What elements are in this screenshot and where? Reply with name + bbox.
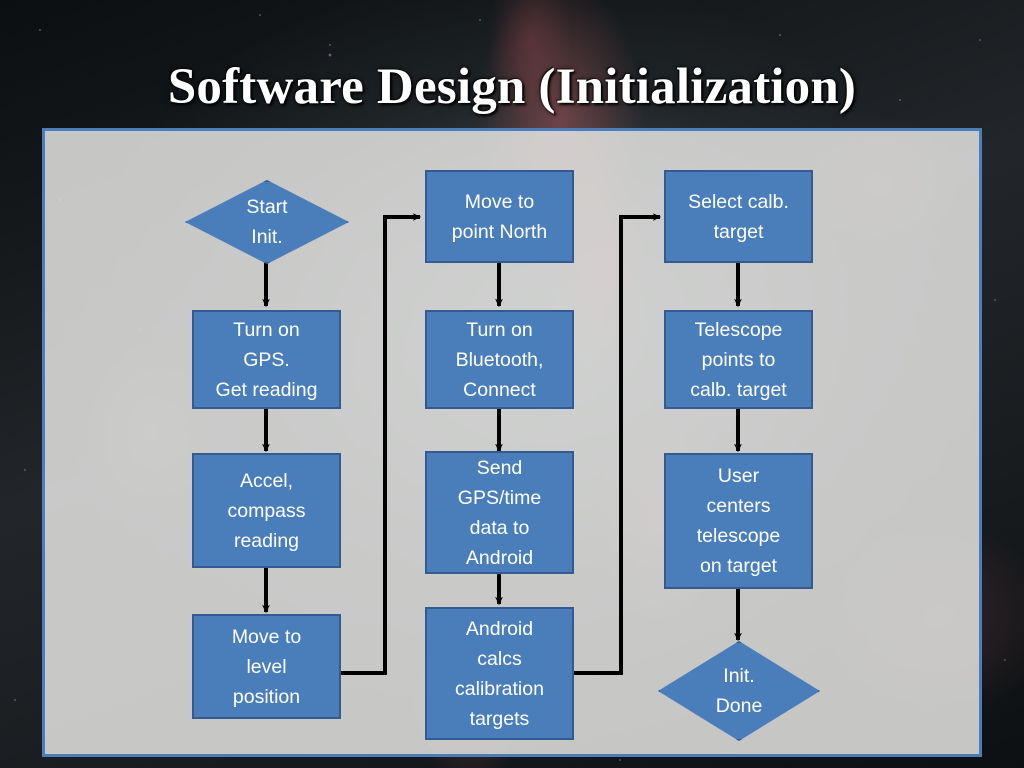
node-turn-on-bluetooth[interactable]: Turn onBluetooth,Connect [425, 310, 574, 409]
node-label: SendGPS/timedata toAndroid [458, 453, 541, 573]
node-label: Turn onBluetooth,Connect [456, 315, 544, 405]
node-telescope-points[interactable]: Telescopepoints tocalb. target [664, 310, 813, 409]
node-label: Usercenterstelescopeon target [697, 461, 780, 581]
node-label: Init.Done [716, 661, 763, 721]
node-label: Telescopepoints tocalb. target [690, 315, 786, 405]
node-turn-on-gps[interactable]: Turn onGPS.Get reading [192, 310, 341, 409]
slide: Software Design (Initialization) [0, 0, 1024, 768]
connector-android-calcs-to-select-calb [574, 217, 660, 673]
node-select-calb-target[interactable]: Select calb.target [664, 170, 813, 263]
node-label: Androidcalcscalibrationtargets [455, 614, 544, 734]
node-accel-compass[interactable]: Accel,compassreading [192, 453, 341, 568]
node-label: Select calb.target [688, 187, 789, 247]
node-init-done[interactable]: Init.Done [658, 641, 820, 741]
node-move-to-level[interactable]: Move tolevelposition [192, 614, 341, 719]
node-send-gps-time[interactable]: SendGPS/timedata toAndroid [425, 451, 574, 574]
node-move-point-north[interactable]: Move topoint North [425, 170, 574, 263]
node-android-calcs[interactable]: Androidcalcscalibrationtargets [425, 607, 574, 740]
node-start-init[interactable]: StartInit. [185, 180, 349, 264]
node-label: Move tolevelposition [232, 622, 301, 712]
node-user-centers-telescope[interactable]: Usercenterstelescopeon target [664, 453, 813, 589]
node-label: Accel,compassreading [227, 466, 305, 556]
connector-move-to-level-to-move-point-north [341, 217, 420, 673]
node-label: Turn onGPS.Get reading [216, 315, 318, 405]
node-label: StartInit. [246, 192, 287, 252]
node-label: Move topoint North [452, 187, 547, 247]
